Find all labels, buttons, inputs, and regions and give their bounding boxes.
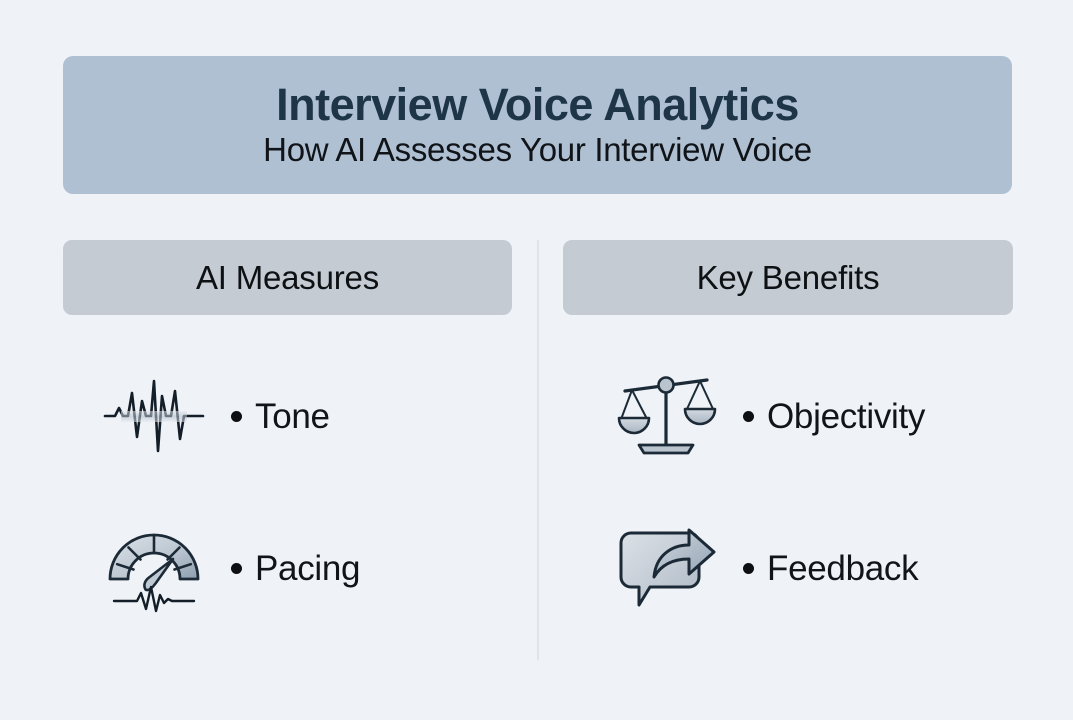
column-divider bbox=[537, 240, 539, 660]
list-item-text: Pacing bbox=[231, 551, 360, 586]
balance-scales-icon bbox=[612, 370, 720, 462]
infographic-canvas: Interview Voice Analytics How AI Assesse… bbox=[0, 0, 1073, 720]
speech-bubble-reply-arrow-icon bbox=[612, 522, 720, 614]
list-item-label: Objectivity bbox=[767, 399, 925, 434]
bullet-icon bbox=[743, 411, 754, 422]
section-header-label: Key Benefits bbox=[697, 259, 880, 297]
list-item-text: Objectivity bbox=[743, 399, 925, 434]
list-item-label: Feedback bbox=[767, 551, 918, 586]
list-item: Tone bbox=[100, 370, 330, 462]
page-subtitle: How AI Assesses Your Interview Voice bbox=[263, 132, 812, 168]
bullet-icon bbox=[231, 563, 242, 574]
page-title: Interview Voice Analytics bbox=[276, 81, 799, 128]
sound-waveform-icon bbox=[100, 370, 208, 462]
speedometer-gauge-icon bbox=[100, 522, 208, 614]
section-header-label: AI Measures bbox=[196, 259, 379, 297]
list-item: Objectivity bbox=[612, 370, 925, 462]
header-banner: Interview Voice Analytics How AI Assesse… bbox=[63, 56, 1012, 194]
list-item-text: Tone bbox=[231, 399, 330, 434]
bullet-icon bbox=[743, 563, 754, 574]
section-header-ai-measures: AI Measures bbox=[63, 240, 512, 315]
list-item: Pacing bbox=[100, 522, 360, 614]
list-item-label: Pacing bbox=[255, 551, 360, 586]
list-item: Feedback bbox=[612, 522, 918, 614]
bullet-icon bbox=[231, 411, 242, 422]
list-item-text: Feedback bbox=[743, 551, 918, 586]
list-item-label: Tone bbox=[255, 399, 330, 434]
section-header-key-benefits: Key Benefits bbox=[563, 240, 1013, 315]
